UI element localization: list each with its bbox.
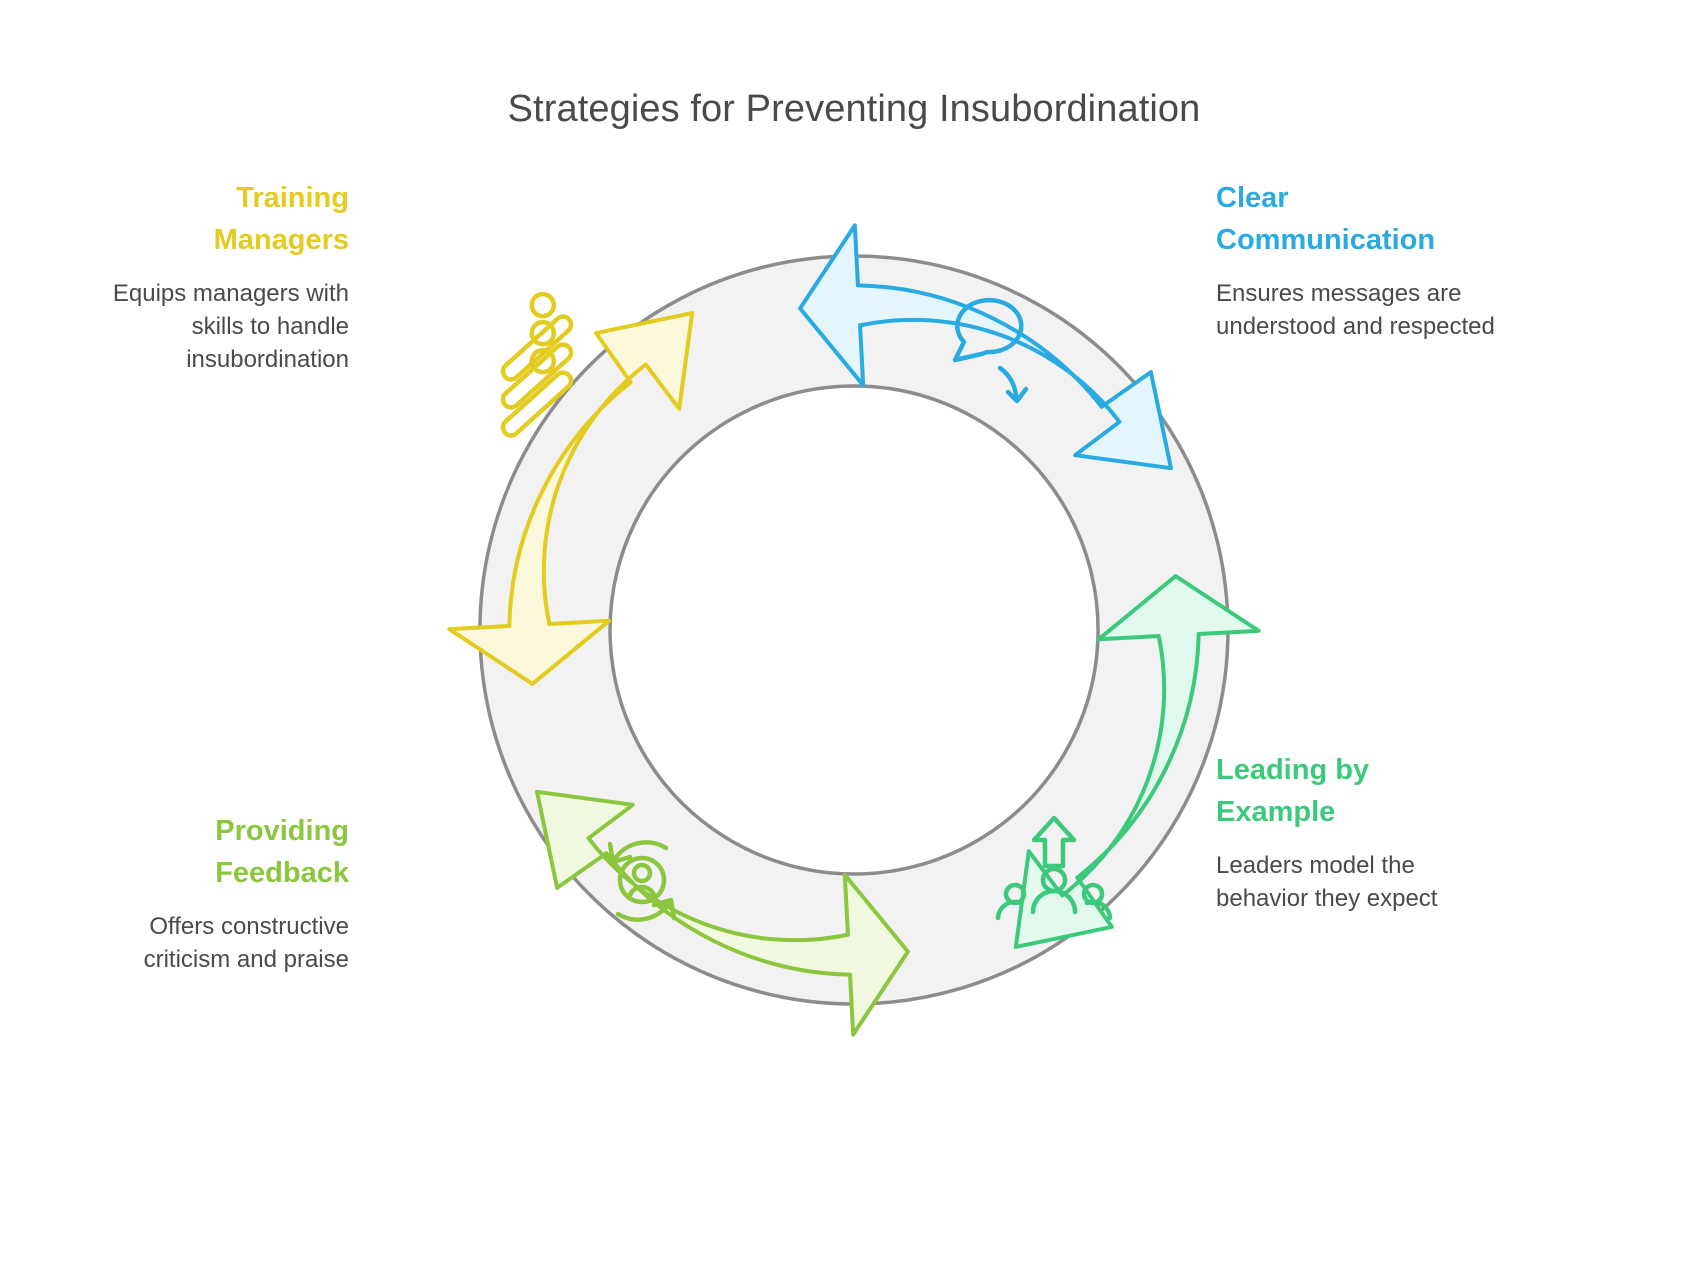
cycle-wheel-diagram: [374, 200, 1334, 1060]
diagram-canvas: Strategies for Preventing Insubordinatio…: [0, 0, 1708, 1276]
heading-training-managers: Training Managers: [64, 177, 349, 261]
label-block-training-managers: Training Managers Equips managers with s…: [64, 177, 349, 376]
label-block-providing-feedback: Providing Feedback Offers constructive c…: [64, 810, 349, 976]
description-leading-by-example: Leaders model the behavior they expect: [1216, 849, 1501, 915]
heading-leading-by-example: Leading by Example: [1216, 749, 1501, 833]
description-clear-communication: Ensures messages are understood and resp…: [1216, 277, 1501, 343]
label-block-leading-by-example: Leading by Example Leaders model the beh…: [1216, 749, 1501, 915]
heading-providing-feedback: Providing Feedback: [64, 810, 349, 894]
description-providing-feedback: Offers constructive criticism and praise: [64, 910, 349, 976]
page-title: Strategies for Preventing Insubordinatio…: [0, 88, 1708, 131]
label-block-clear-communication: Clear Communication Ensures messages are…: [1216, 177, 1501, 343]
heading-clear-communication: Clear Communication: [1216, 177, 1501, 261]
description-training-managers: Equips managers with skills to handle in…: [64, 277, 349, 376]
